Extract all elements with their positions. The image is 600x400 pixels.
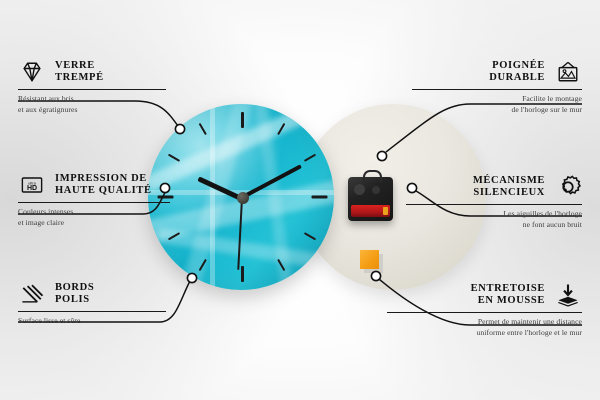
infographic-canvas: VERRETREMPÉ Résistant aux briset aux égr… bbox=[0, 0, 600, 400]
feature-verre-trempe[interactable]: VERRETREMPÉ Résistant aux briset aux égr… bbox=[18, 58, 166, 115]
gear-icon bbox=[554, 173, 582, 201]
feature-poignee-durable[interactable]: POIGNÉEDURABLE Facilite le montagede l'h… bbox=[412, 58, 582, 115]
wall-hanger-icon bbox=[554, 58, 582, 86]
divider bbox=[406, 204, 582, 205]
clock-face bbox=[148, 104, 334, 290]
divider bbox=[18, 311, 166, 312]
feature-description: Facilite le montagede l'horloge sur le m… bbox=[412, 94, 582, 116]
feature-description: Permet de maintenir une distanceuniforme… bbox=[387, 317, 582, 339]
feature-impression-haute-qualite[interactable]: ultra HD IMPRESSION DEHAUTE QUALITÉ Coul… bbox=[18, 171, 170, 228]
diamond-icon bbox=[18, 58, 46, 86]
divider bbox=[387, 312, 582, 313]
divider bbox=[18, 202, 170, 203]
svg-text:HD: HD bbox=[27, 185, 37, 192]
divider bbox=[18, 89, 166, 90]
polished-edges-icon bbox=[18, 280, 46, 308]
feature-entretoise-en-mousse[interactable]: ENTRETOISEEN MOUSSE Permet de maintenir … bbox=[387, 281, 582, 338]
battery bbox=[351, 205, 390, 217]
feature-title: VERRETREMPÉ bbox=[55, 60, 104, 85]
feature-description: Couleurs intenseset image claire bbox=[18, 207, 170, 229]
ultra-hd-icon: ultra HD bbox=[18, 171, 46, 199]
foam-spacer bbox=[360, 250, 379, 269]
feature-mecanisme-silencieux[interactable]: MÉCANISMESILENCIEUX Les aiguilles de l'h… bbox=[406, 173, 582, 230]
divider bbox=[412, 89, 582, 90]
foam-spacer-icon bbox=[554, 281, 582, 309]
feature-bords-polis[interactable]: BORDSPOLIS Surface lisse et sûre bbox=[18, 280, 166, 327]
feature-title: BORDSPOLIS bbox=[55, 282, 94, 307]
mechanism-knob-icon bbox=[354, 184, 365, 195]
feature-title: MÉCANISMESILENCIEUX bbox=[473, 175, 545, 200]
feature-description: Surface lisse et sûre bbox=[18, 316, 166, 327]
feature-description: Résistant aux briset aux égratignures bbox=[18, 94, 166, 116]
feature-title: IMPRESSION DEHAUTE QUALITÉ bbox=[55, 173, 152, 198]
feature-title: POIGNÉEDURABLE bbox=[489, 60, 545, 85]
feature-title: ENTRETOISEEN MOUSSE bbox=[471, 283, 545, 308]
clock-mechanism bbox=[348, 177, 393, 221]
mechanism-knob-secondary-icon bbox=[372, 186, 380, 194]
clock-center-pin bbox=[237, 192, 249, 204]
feature-description: Les aiguilles de l'horlogene font aucun … bbox=[406, 209, 582, 231]
